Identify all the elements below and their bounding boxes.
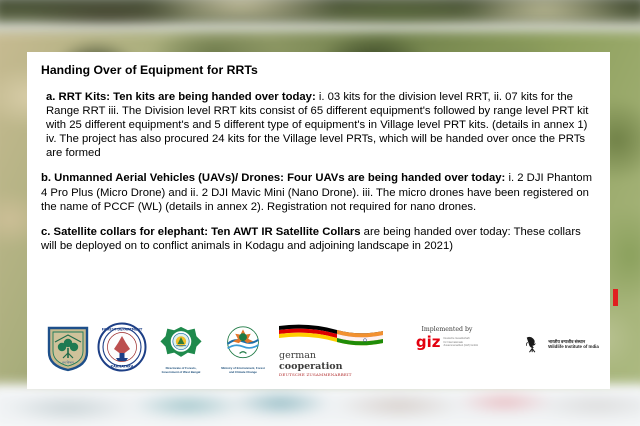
german-cooperation-line1: german bbox=[279, 351, 383, 361]
slide-progress-tick bbox=[613, 289, 618, 306]
section-rrt-kits: a. RRT Kits: Ten kits are being handed o… bbox=[41, 90, 596, 160]
german-cooperation-logo: german cooperation DEUTSCHE ZUSAMMENARBE… bbox=[279, 322, 383, 380]
slide-title: Handing Over of Equipment for RRTs bbox=[41, 63, 596, 77]
section-uav-drones-lead: b. Unmanned Aerial Vehicles (UAVs)/ Dron… bbox=[41, 172, 505, 184]
forest-shield-emblem-icon: वन विभाग bbox=[45, 322, 91, 380]
giz-wordmark: giz bbox=[416, 335, 441, 350]
background-bottom-band bbox=[0, 384, 640, 426]
section-uav-drones: b. Unmanned Aerial Vehicles (UAVs)/ Dron… bbox=[41, 171, 596, 213]
wildlife-institute-of-india-logo: भारतीय वन्यजीव संस्थान Wildlife Institut… bbox=[513, 322, 610, 380]
wii-bird-icon bbox=[524, 334, 544, 354]
german-cooperation-line2: cooperation bbox=[279, 362, 383, 372]
logo-caption-moefcc: Ministry of Environment, Forestand Clima… bbox=[215, 367, 271, 374]
svg-text:FOREST DEPARTMENT: FOREST DEPARTMENT bbox=[102, 328, 143, 332]
section-rrt-kits-lead: a. RRT Kits: Ten kits are being handed o… bbox=[46, 91, 316, 103]
giz-wordmark-row: giz Deutsche Gesellschaftfür Internation… bbox=[416, 335, 478, 350]
implemented-by-label: Implemented by bbox=[421, 326, 472, 333]
german-cooperation-line3: DEUTSCHE ZUSAMMENARBEIT bbox=[279, 373, 383, 377]
giz-subtext: Deutsche Gesellschaftfür InternationaleZ… bbox=[444, 337, 478, 347]
partner-logo-strip: वन विभाग FOREST DEPARTMENT KARNATAKA bbox=[27, 322, 610, 389]
directorate-of-forests-west-bengal-icon: Directorate of Forests,Government of Wes… bbox=[153, 322, 209, 380]
logo-caption-west-bengal: Directorate of Forests,Government of Wes… bbox=[153, 367, 209, 374]
wii-english-name: Wildlife Institute of India bbox=[548, 344, 599, 350]
giz-logo: Implemented by giz Deutsche Gesellschaft… bbox=[411, 322, 483, 380]
presentation-slide: Handing Over of Equipment for RRTs a. RR… bbox=[27, 52, 610, 389]
svg-text:KARNATAKA: KARNATAKA bbox=[111, 365, 134, 369]
karnataka-forest-department-seal-icon: FOREST DEPARTMENT KARNATAKA bbox=[97, 322, 147, 380]
wii-logo-row: भारतीय वन्यजीव संस्थान Wildlife Institut… bbox=[524, 334, 599, 354]
section-satellite-collars-lead: c. Satellite collars for elephant: Ten A… bbox=[41, 226, 361, 238]
moefcc-emblem-icon: Ministry of Environment, Forestand Clima… bbox=[215, 322, 271, 380]
section-satellite-collars: c. Satellite collars for elephant: Ten A… bbox=[41, 225, 596, 253]
slide-content: Handing Over of Equipment for RRTs a. RR… bbox=[27, 52, 610, 253]
svg-text:वन विभाग: वन विभाग bbox=[62, 361, 74, 365]
screenshot-stage: Handing Over of Equipment for RRTs a. RR… bbox=[0, 0, 640, 426]
